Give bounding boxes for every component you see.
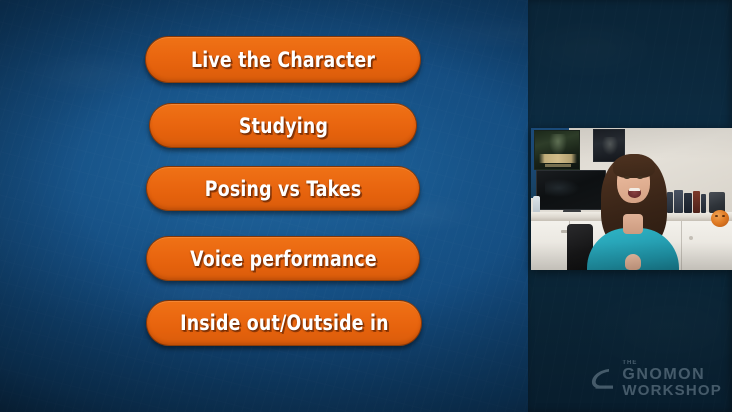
pill-item-inside-out-outside-in[interactable]: Inside out/Outside in <box>146 300 422 346</box>
pill-list: Live the Character Studying Posing vs Ta… <box>0 0 531 412</box>
pill-item-voice-performance[interactable]: Voice performance <box>146 236 420 281</box>
presenter-webcam-video[interactable] <box>531 128 732 270</box>
pill-label: Voice performance <box>190 247 377 271</box>
pill-item-studying[interactable]: Studying <box>149 103 417 148</box>
pill-item-live-the-character[interactable]: Live the Character <box>145 36 421 83</box>
pill-label: Inside out/Outside in <box>180 311 389 335</box>
gnomon-workshop-watermark: THE GNOMON WORKSHOP <box>589 360 722 398</box>
pill-label: Posing vs Takes <box>205 177 362 201</box>
webcam-shading-overlay <box>531 128 732 270</box>
pill-label: Studying <box>238 114 327 138</box>
slide-root: Live the Character Studying Posing vs Ta… <box>0 0 732 412</box>
watermark-workshop: WORKSHOP <box>622 383 722 398</box>
watermark-gnomon: GNOMON <box>622 367 722 383</box>
watermark-text: THE GNOMON WORKSHOP <box>622 360 722 398</box>
gnomon-swoosh-icon <box>589 366 617 392</box>
pill-label: Live the Character <box>191 48 375 72</box>
pill-item-posing-vs-takes[interactable]: Posing vs Takes <box>146 166 420 211</box>
